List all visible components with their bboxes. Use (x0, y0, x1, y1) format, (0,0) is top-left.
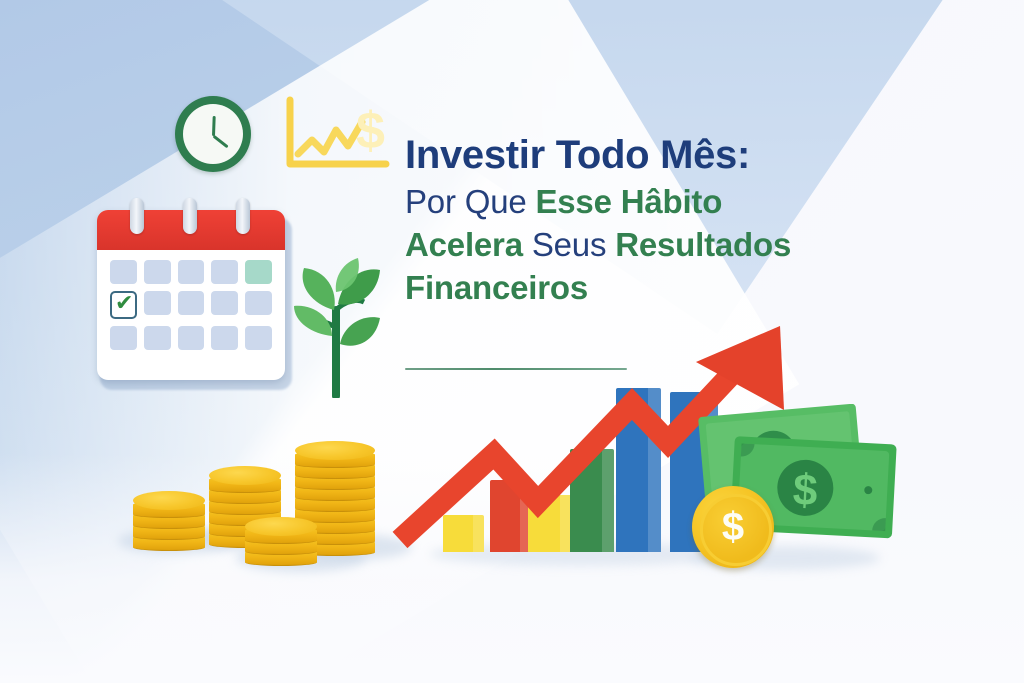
headline-line-4: Financeiros (405, 270, 925, 307)
dollar-symbol: $ (692, 502, 774, 552)
headline-line-2-green: Esse Hâbito (535, 183, 722, 220)
clock-minute-hand (213, 135, 229, 148)
calendar-cell (110, 260, 137, 284)
clock-hour-hand (212, 116, 216, 136)
line-chart-dollar-icon: $ (282, 96, 392, 176)
page-title: Investir Todo Mês: Por Que Esse Hâbito A… (405, 133, 925, 307)
calendar-cell (178, 260, 205, 284)
headline-line-3-navy: Seus (532, 226, 615, 263)
calendar-cell (178, 326, 205, 350)
calendar-cell (110, 326, 137, 350)
coin-top-face (209, 466, 281, 485)
svg-text:$: $ (356, 102, 385, 160)
headline-line-1: Investir Todo Mês: (405, 133, 925, 178)
headline-line-3-green-1: Acelera (405, 226, 532, 263)
calendar-ring (236, 198, 250, 234)
calendar-body: ✔ (97, 210, 285, 380)
calendar-cell-checked: ✔ (110, 291, 137, 319)
calendar-cell (144, 291, 171, 315)
calendar-cell (144, 326, 171, 350)
headline-line-2-navy: Por Que (405, 183, 535, 220)
calendar-cell (211, 326, 238, 350)
calendar-grid: ✔ (110, 260, 272, 350)
calendar-cell-accent (245, 260, 272, 284)
coin-stack (133, 491, 205, 551)
clock-face (183, 104, 243, 164)
calendar-icon: ✔ (97, 210, 289, 385)
headline-line-4-green: Financeiros (405, 269, 588, 306)
calendar-ring (130, 198, 144, 234)
dollar-coin-icon: $ (692, 486, 774, 568)
coin-stack (245, 517, 317, 566)
poster-canvas: $ Investir Todo Mês: Por Que Esse Hâbito… (0, 0, 1024, 683)
calendar-cell (245, 326, 272, 350)
clock-icon (175, 96, 251, 172)
calendar-cell (211, 260, 238, 284)
calendar-cell (211, 291, 238, 315)
headline-line-2: Por Que Esse Hâbito (405, 184, 925, 221)
coin-top-face (133, 491, 205, 510)
coin-top-face (295, 441, 375, 460)
svg-text:$: $ (792, 465, 819, 515)
headline-line-3-green-2: Resultados (615, 226, 791, 263)
checkmark-icon: ✔ (115, 293, 133, 313)
coin-top-face (245, 517, 317, 536)
calendar-cell (178, 291, 205, 315)
growing-plant-icon (282, 258, 392, 398)
calendar-ring (183, 198, 197, 234)
headline-line-3: Acelera Seus Resultados (405, 227, 925, 264)
calendar-cell (144, 260, 171, 284)
calendar-cell (245, 291, 272, 315)
